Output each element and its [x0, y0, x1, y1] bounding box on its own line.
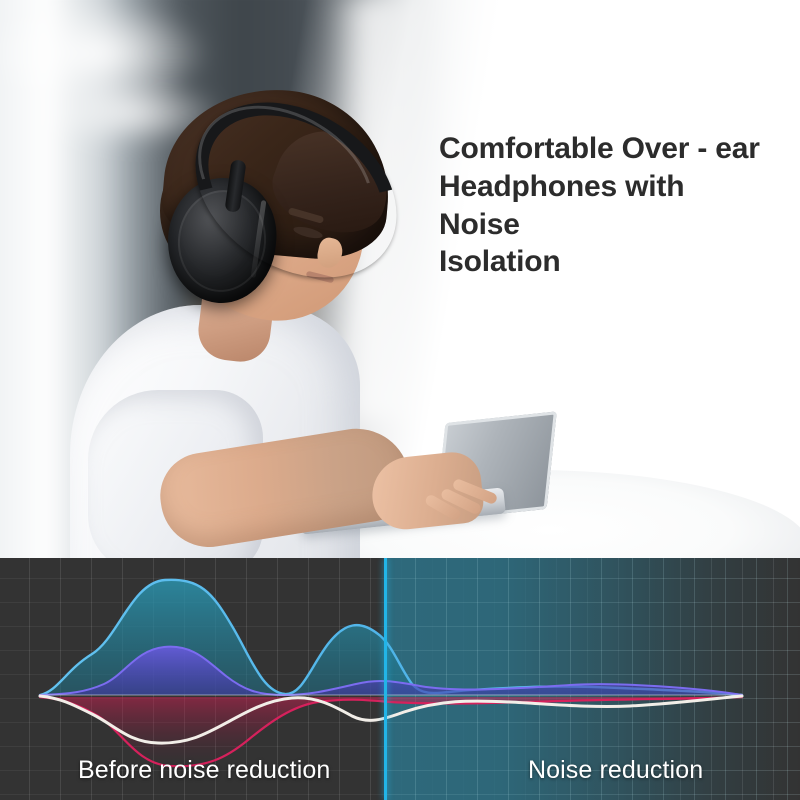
page-title: Comfortable Over - ear Headphones with N…	[439, 130, 769, 281]
comparison-divider	[384, 558, 387, 800]
product-banner: Comfortable Over - ear Headphones with N…	[0, 0, 800, 800]
headline-line-3: Isolation	[439, 243, 769, 281]
hero-photo: Comfortable Over - ear Headphones with N…	[0, 0, 800, 558]
headline-line-2: Headphones with Noise	[439, 168, 769, 244]
headline-line-1: Comfortable Over - ear	[439, 130, 769, 168]
label-before-noise-reduction: Before noise reduction	[78, 756, 330, 785]
label-noise-reduction: Noise reduction	[528, 756, 703, 785]
